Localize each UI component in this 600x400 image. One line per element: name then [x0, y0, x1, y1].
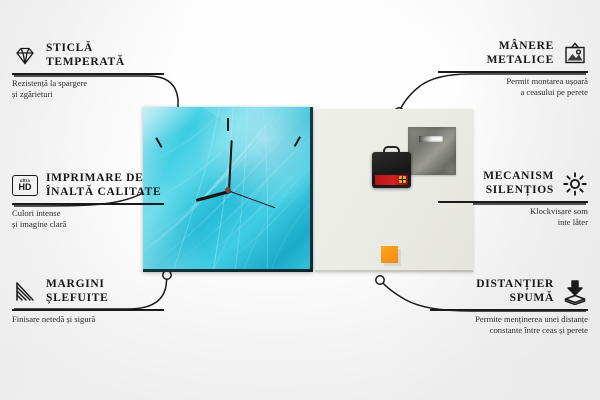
hanging-frame-icon — [562, 41, 588, 67]
callout-title: MÂNERE METALICE — [487, 40, 554, 67]
infographic-canvas: STICLĂ TEMPERATĂ Rezistență la spargere … — [0, 0, 600, 400]
callout-subtitle: Permit montarea ușoară a ceasului pe per… — [438, 76, 588, 99]
metal-hanger — [408, 127, 456, 175]
quartz-mechanism — [372, 152, 411, 188]
clock-minute-hand — [228, 140, 233, 192]
callout-rule — [438, 201, 588, 202]
battery-plus-icon — [399, 176, 406, 183]
battery — [375, 175, 408, 185]
callout-title: STICLĂ TEMPERATĂ — [46, 42, 125, 69]
callout-silent-mechanism: MECANISM SILENȚIOS Klockvisare som inte … — [438, 170, 588, 229]
callout-subtitle: Finisare netedă și sigură — [12, 314, 164, 326]
callout-high-quality-print: ultra HD IMPRIMARE DE ÎNALTĂ CALITATE Cu… — [12, 172, 164, 231]
callout-rule — [12, 203, 164, 204]
back-bottom-edge — [315, 270, 473, 272]
callout-title: IMPRIMARE DE ÎNALTĂ CALITATE — [46, 172, 161, 199]
mechanism-loop — [383, 146, 400, 155]
foam-spacer-pad — [381, 246, 398, 263]
clock-face — [143, 107, 313, 272]
gear-icon — [562, 171, 588, 197]
callout-title: MARGINI ȘLEFUITE — [46, 278, 108, 305]
ultra-hd-icon: ultra HD — [12, 173, 38, 199]
callout-rule — [12, 309, 164, 310]
glass-bottom-edge — [143, 269, 313, 272]
clock-second-hand — [228, 189, 275, 207]
callout-metal-handles: MÂNERE METALICE Permit montarea ușoară a… — [438, 40, 588, 99]
callout-foam-spacer: DISTANȚIER SPUMĂ Permite menținerea unei… — [430, 278, 588, 337]
callout-polished-edges: MARGINI ȘLEFUITE Finisare netedă și sigu… — [12, 278, 164, 325]
callout-rule — [12, 73, 164, 74]
clock-front-panel — [143, 107, 313, 272]
callout-tempered-glass: STICLĂ TEMPERATĂ Rezistență la spargere … — [12, 42, 164, 101]
callout-subtitle: Klockvisare som inte låter — [438, 206, 588, 229]
callout-subtitle: Rezistență la spargere și zgârieturi — [12, 78, 164, 101]
polished-edge-icon — [12, 279, 38, 305]
callout-subtitle: Culori intense și imagine clară — [12, 208, 164, 231]
clock-center-cap — [225, 187, 231, 193]
callout-subtitle: Permite menținerea unei distanțe constan… — [430, 314, 588, 337]
callout-rule — [430, 309, 588, 310]
product-image — [143, 107, 473, 275]
callout-rule — [438, 71, 588, 72]
callout-title: DISTANȚIER SPUMĂ — [476, 278, 554, 305]
down-arrow-pad-icon — [562, 279, 588, 305]
callout-title: MECANISM SILENȚIOS — [483, 170, 554, 197]
glass-right-edge — [310, 107, 313, 272]
hanger-slot — [419, 136, 443, 142]
connector-dot-6 — [376, 276, 384, 284]
diamond-icon — [12, 43, 38, 69]
